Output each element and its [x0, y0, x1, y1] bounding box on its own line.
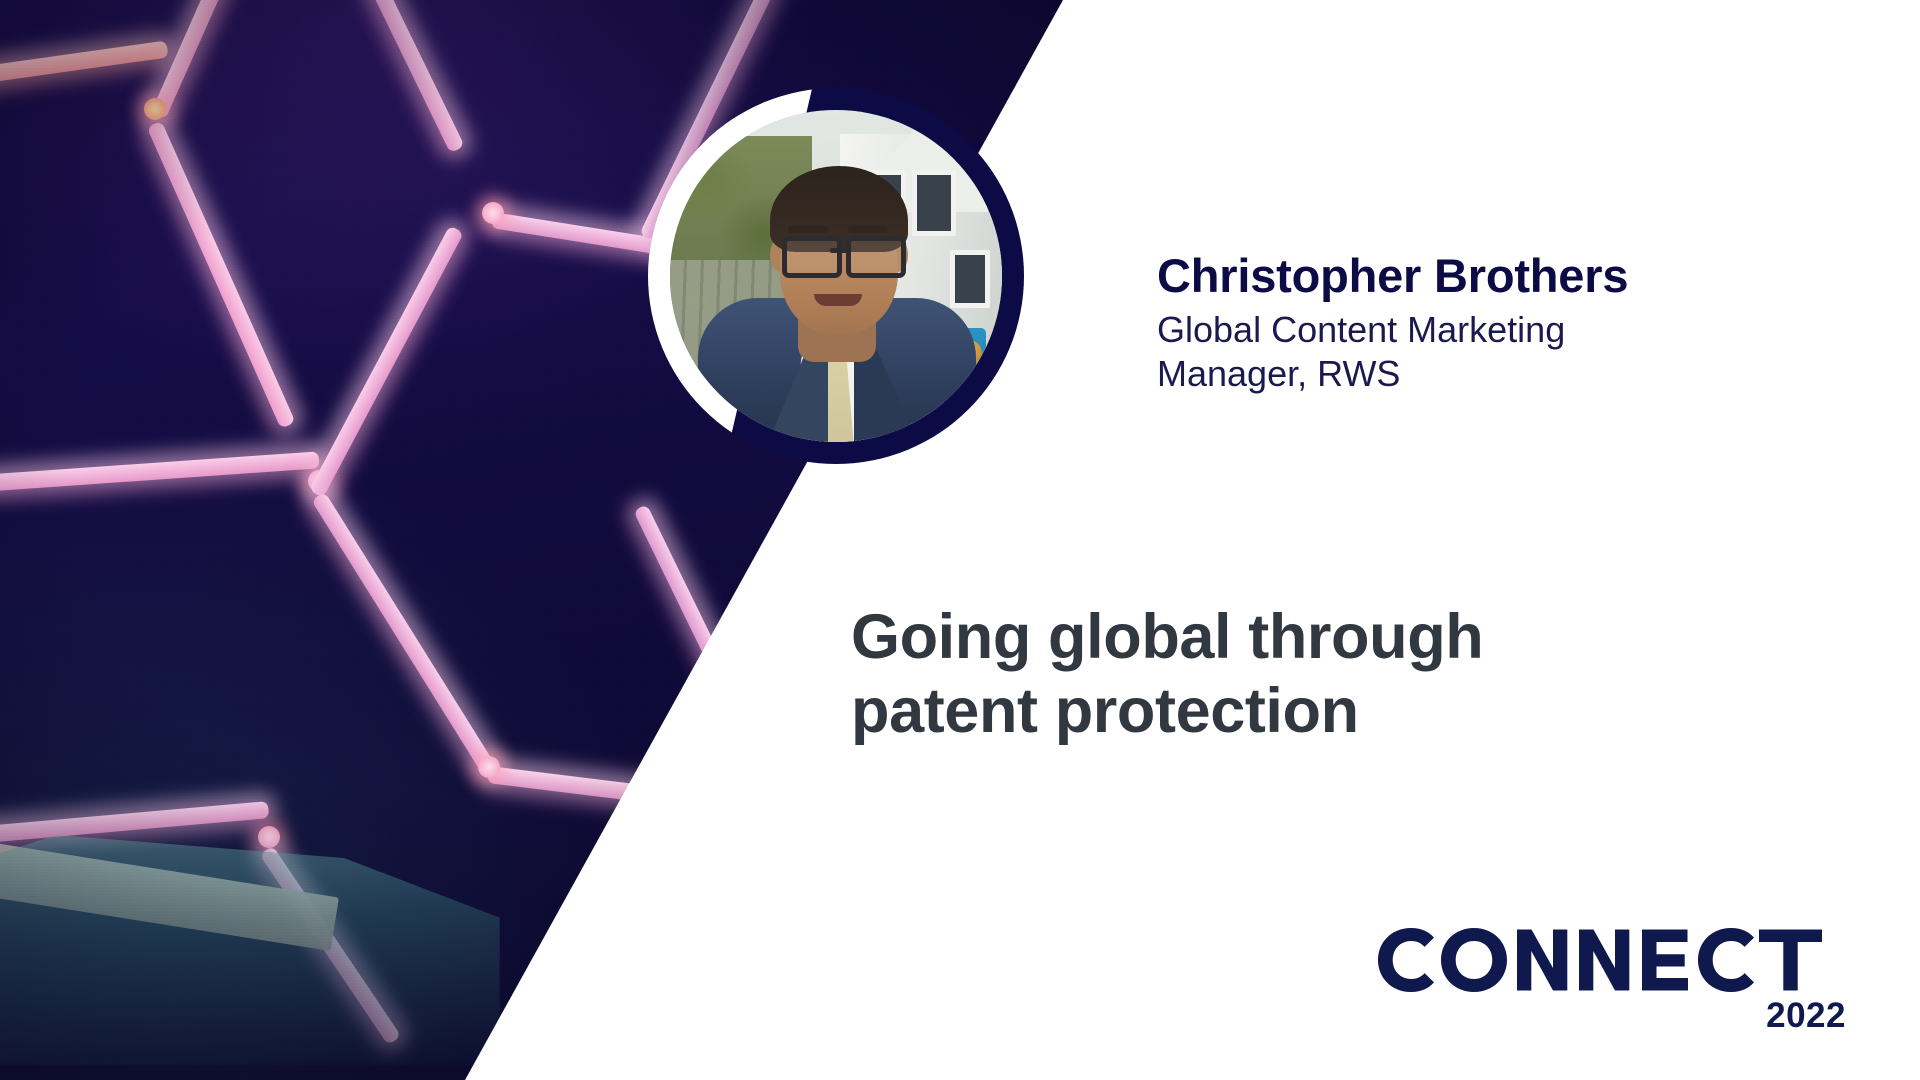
- avatar-glasses-right: [846, 236, 906, 278]
- avatar-brow-right: [848, 226, 888, 233]
- avatar-mouth: [814, 294, 862, 306]
- slide-headline: Going global through patent protection: [851, 600, 1811, 749]
- title-slide: Christopher Brothers Global Content Mark…: [0, 0, 1920, 1080]
- speaker-name: Christopher Brothers: [1157, 252, 1877, 299]
- connect-logo: 2022: [1378, 928, 1848, 1033]
- connect-wordmark: [1378, 928, 1848, 992]
- speaker-role-line-2: Manager, RWS: [1157, 353, 1400, 394]
- speaker-role: Global Content Marketing Manager, RWS: [1157, 308, 1877, 396]
- speaker-role-line-1: Global Content Marketing: [1157, 309, 1565, 350]
- avatar-brow-left: [788, 226, 828, 233]
- avatar: [648, 88, 1024, 464]
- connect-year: 2022: [1378, 998, 1848, 1033]
- avatar-glasses-left: [782, 236, 842, 278]
- avatar-photo: [670, 110, 1002, 442]
- headline-line-2: patent protection: [851, 676, 1359, 746]
- avatar-bg-window: [912, 170, 956, 236]
- speaker-block: Christopher Brothers Global Content Mark…: [1157, 252, 1877, 396]
- headline-line-1: Going global through: [851, 602, 1483, 672]
- avatar-bg-window: [950, 250, 990, 308]
- avatar-glasses-bridge: [830, 248, 848, 253]
